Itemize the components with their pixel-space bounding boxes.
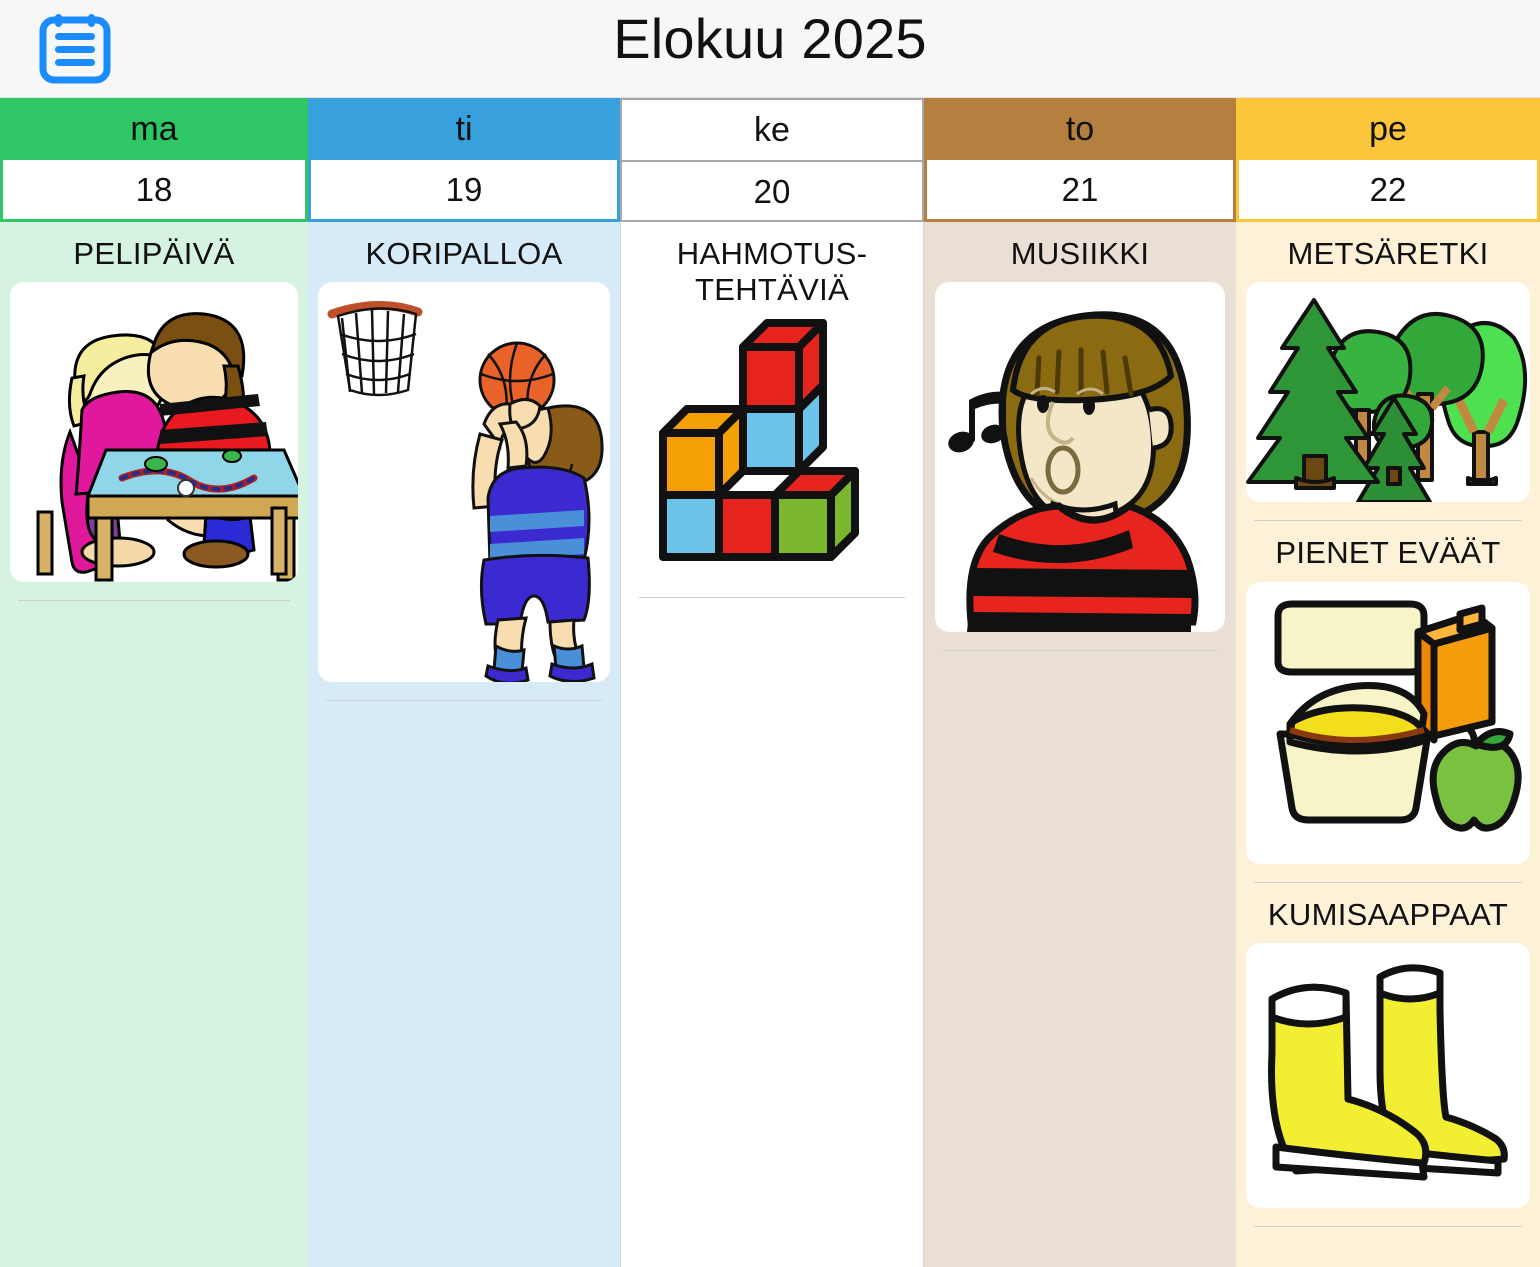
day-column-monday: ma 18 PELIPÄIVÄ (0, 98, 308, 1267)
day-number-wednesday: 20 (620, 160, 924, 222)
activity-item[interactable]: KORIPALLOA (318, 222, 610, 682)
lunchbox-icon (1246, 582, 1530, 864)
activity-label: MUSIIKKI (934, 232, 1226, 282)
day-body-wednesday: HAHMOTUS- TEHTÄVIÄ (620, 222, 924, 1267)
day-number-monday: 18 (0, 160, 308, 222)
colored-blocks-icon (631, 319, 913, 579)
day-column-tuesday: ti 19 KORIPALLOA (308, 98, 620, 1267)
activity-item[interactable]: MUSIIKKI (934, 222, 1226, 632)
day-name-wednesday: ke (620, 98, 924, 160)
activity-item[interactable]: PIENET EVÄÄT (1246, 521, 1530, 863)
activity-divider (18, 600, 290, 601)
activity-item[interactable]: METSÄRETKI (1246, 222, 1530, 502)
activity-label: HAHMOTUS- TEHTÄVIÄ (631, 232, 913, 319)
activity-divider (942, 650, 1218, 651)
day-body-monday: PELIPÄIVÄ (0, 222, 308, 1267)
day-column-wednesday: ke 20 HAHMOTUS- TEHTÄVIÄ (620, 98, 924, 1267)
weekly-schedule-app: Elokuu 2025 ma 18 PELIPÄIVÄ (0, 0, 1540, 1267)
day-name-thursday: to (924, 98, 1236, 160)
activity-label: PELIPÄIVÄ (10, 232, 298, 282)
singing-child-icon (935, 282, 1225, 632)
rubber-boots-icon (1246, 943, 1530, 1208)
day-column-thursday: to 21 MUSIIKKI (924, 98, 1236, 1267)
activity-divider (1254, 1226, 1522, 1227)
activity-item[interactable]: PELIPÄIVÄ (10, 222, 298, 582)
activity-item[interactable]: HAHMOTUS- TEHTÄVIÄ (631, 222, 913, 579)
activity-label: KUMISAAPPAAT (1246, 893, 1530, 943)
activity-item[interactable]: KUMISAAPPAAT (1246, 883, 1530, 1208)
activity-label: KORIPALLOA (318, 232, 610, 282)
day-number-friday: 22 (1236, 160, 1540, 222)
week-grid: ma 18 PELIPÄIVÄ (0, 98, 1540, 1267)
activity-label: PIENET EVÄÄT (1246, 531, 1530, 581)
day-number-thursday: 21 (924, 160, 1236, 222)
app-header: Elokuu 2025 (0, 0, 1540, 98)
activity-divider (326, 700, 602, 701)
day-number-tuesday: 19 (308, 160, 620, 222)
activity-label: METSÄRETKI (1246, 232, 1530, 282)
board-game-children-icon (10, 282, 298, 582)
day-name-friday: pe (1236, 98, 1540, 160)
day-column-friday: pe 22 METSÄRETKI (1236, 98, 1540, 1267)
activity-divider (639, 597, 905, 598)
day-name-monday: ma (0, 98, 308, 160)
day-body-friday: METSÄRETKI (1236, 222, 1540, 1267)
forest-trees-icon (1246, 282, 1530, 502)
day-body-thursday: MUSIIKKI (924, 222, 1236, 1267)
day-body-tuesday: KORIPALLOA (308, 222, 620, 1267)
basketball-player-icon (318, 282, 610, 682)
page-title: Elokuu 2025 (0, 6, 1540, 71)
day-name-tuesday: ti (308, 98, 620, 160)
